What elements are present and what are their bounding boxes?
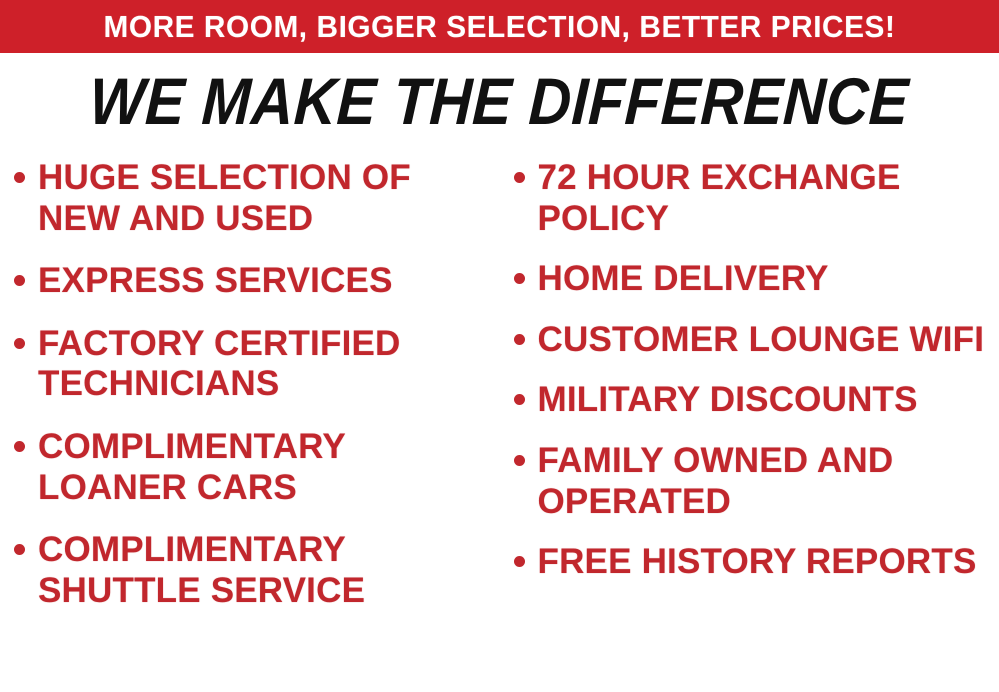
benefits-list-right: 72 HOUR EXCHANGE POLICY HOME DELIVERY CU… <box>514 158 996 583</box>
list-item: HUGE SELECTION OF NEW AND USED <box>14 158 492 239</box>
list-item: MILITARY DISCOUNTS <box>514 380 996 421</box>
headline-container: WE MAKE THE DIFFERENCE <box>0 58 999 144</box>
bullet-dot-icon <box>514 455 525 466</box>
bullet-dot-icon <box>514 172 525 183</box>
list-item-label: FREE HISTORY REPORTS <box>538 542 977 583</box>
bullet-dot-icon <box>14 544 25 555</box>
page-title: WE MAKE THE DIFFERENCE <box>88 68 910 134</box>
list-item: FACTORY CERTIFIED TECHNICIANS <box>14 324 492 405</box>
bullet-dot-icon <box>14 172 25 183</box>
top-red-banner: MORE ROOM, BIGGER SELECTION, BETTER PRIC… <box>0 0 999 53</box>
list-item: FAMILY OWNED AND OPERATED <box>514 441 996 522</box>
bullet-dot-icon <box>14 275 25 286</box>
list-item: COMPLIMENTARY LOANER CARS <box>14 427 492 508</box>
list-item: COMPLIMENTARY SHUTTLE SERVICE <box>14 530 492 611</box>
list-item-label: FACTORY CERTIFIED TECHNICIANS <box>38 324 492 405</box>
list-item-label: 72 HOUR EXCHANGE POLICY <box>538 158 996 239</box>
dealership-promo-banner: MORE ROOM, BIGGER SELECTION, BETTER PRIC… <box>0 0 999 692</box>
bullet-dot-icon <box>514 273 525 284</box>
bullet-dot-icon <box>14 338 25 349</box>
benefits-column-right: 72 HOUR EXCHANGE POLICY HOME DELIVERY CU… <box>500 152 999 603</box>
benefits-columns: HUGE SELECTION OF NEW AND USED EXPRESS S… <box>0 152 999 692</box>
bullet-dot-icon <box>514 334 525 345</box>
list-item-label: FAMILY OWNED AND OPERATED <box>538 441 996 522</box>
list-item: 72 HOUR EXCHANGE POLICY <box>514 158 996 239</box>
list-item-label: MILITARY DISCOUNTS <box>538 380 918 421</box>
list-item-label: COMPLIMENTARY SHUTTLE SERVICE <box>38 530 492 611</box>
list-item-label: HOME DELIVERY <box>538 259 829 300</box>
benefits-list-left: HUGE SELECTION OF NEW AND USED EXPRESS S… <box>14 158 492 611</box>
list-item: FREE HISTORY REPORTS <box>514 542 996 583</box>
bullet-dot-icon <box>14 441 25 452</box>
bullet-dot-icon <box>514 394 525 405</box>
top-banner-headline: MORE ROOM, BIGGER SELECTION, BETTER PRIC… <box>104 11 896 42</box>
list-item-label: COMPLIMENTARY LOANER CARS <box>38 427 492 508</box>
list-item-label: HUGE SELECTION OF NEW AND USED <box>38 158 492 239</box>
bullet-dot-icon <box>514 556 525 567</box>
list-item-label: EXPRESS SERVICES <box>38 261 393 302</box>
benefits-column-left: HUGE SELECTION OF NEW AND USED EXPRESS S… <box>0 152 500 633</box>
list-item: EXPRESS SERVICES <box>14 261 492 302</box>
list-item: CUSTOMER LOUNGE WIFI <box>514 320 996 361</box>
list-item: HOME DELIVERY <box>514 259 996 300</box>
list-item-label: CUSTOMER LOUNGE WIFI <box>538 320 985 361</box>
